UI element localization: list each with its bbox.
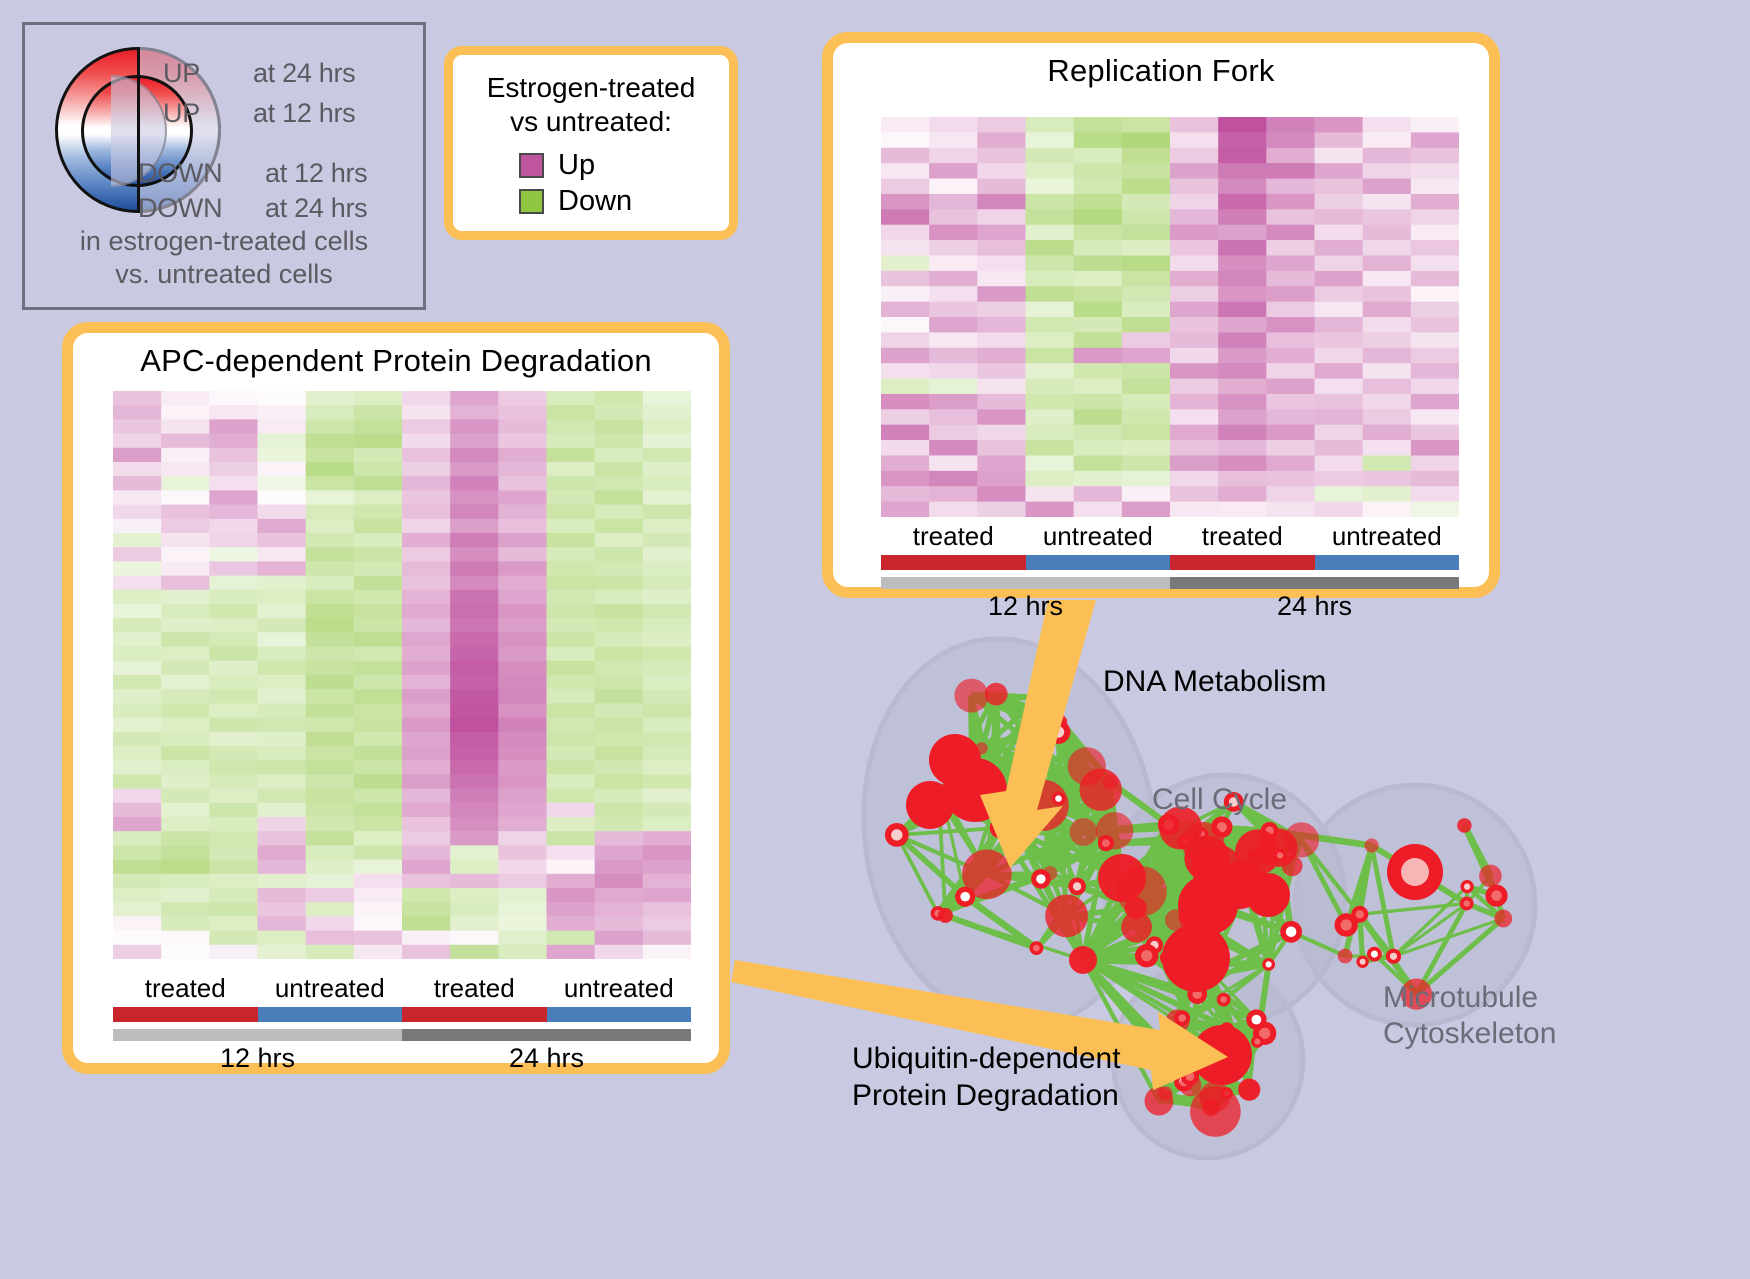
heatmap-cell: [595, 419, 644, 434]
heatmap-cell: [1411, 455, 1459, 471]
time-bar-rf-24hrs: [1170, 577, 1459, 589]
heatmap-cell: [209, 874, 258, 889]
heatmap-cell: [595, 689, 644, 704]
heatmap-cell: [113, 476, 162, 491]
network-node-core: [1011, 824, 1021, 834]
heatmap-cell: [1315, 502, 1364, 517]
heatmap-cell: [1411, 240, 1459, 256]
heatmap-cell: [306, 860, 355, 875]
heatmap-cell: [113, 519, 162, 534]
network-node: [1103, 775, 1118, 790]
heatmap-cell: [258, 916, 307, 931]
heatmap-cell: [450, 732, 499, 747]
heatmap-cell: [1363, 225, 1412, 241]
heatmap-cell: [643, 703, 691, 718]
cond-label-rf-2: treated: [1170, 521, 1315, 552]
heatmap-cell: [354, 817, 403, 832]
heatmap-cell: [161, 505, 210, 520]
heatmap-cell: [1074, 255, 1123, 271]
heatmap-cell: [547, 476, 596, 491]
network-node: [1098, 854, 1146, 902]
heatmap-cell: [450, 604, 499, 619]
heatmap-cell: [595, 405, 644, 420]
heatmap-cell: [881, 117, 930, 133]
heatmap-cell: [161, 774, 210, 789]
heatmap-cell: [258, 902, 307, 917]
heatmap-cell: [1026, 394, 1075, 410]
heatmap-cell: [402, 391, 451, 406]
heatmap-cell: [643, 405, 691, 420]
heatmap-cell: [1315, 225, 1364, 241]
heatmap-cell: [113, 774, 162, 789]
heatmap-cell: [1074, 271, 1123, 287]
heatmap-cell: [113, 618, 162, 633]
heatmap-cell: [881, 363, 930, 379]
heatmap-cell: [1074, 117, 1123, 133]
heatmap-cell: [161, 874, 210, 889]
heatmap-cell: [209, 860, 258, 875]
heatmap-cell: [643, 746, 691, 761]
heatmap-cell: [1170, 225, 1219, 241]
heatmap-cell: [161, 817, 210, 832]
heatmap-cell: [258, 632, 307, 647]
heatmap-cell: [595, 462, 644, 477]
heatmap-cell: [1411, 363, 1459, 379]
heatmap-cell: [209, 618, 258, 633]
heatmap-cell: [595, 774, 644, 789]
heatmap-cell: [1026, 240, 1075, 256]
heatmap-cell: [306, 888, 355, 903]
heatmap-cell: [450, 448, 499, 463]
heatmap-cell: [354, 675, 403, 690]
heatmap-cell: [306, 533, 355, 548]
heatmap-cell: [929, 455, 978, 471]
heatmap-cell: [258, 689, 307, 704]
heatmap-cell: [547, 632, 596, 647]
heatmap-cell: [354, 803, 403, 818]
heatmap-cell: [306, 405, 355, 420]
heatmap-cell: [1170, 117, 1219, 133]
time-bar-apc-12hrs: [113, 1029, 402, 1041]
heatmap-cell: [498, 945, 547, 959]
heatmap-cell: [1218, 194, 1267, 210]
heatmap-cell: [595, 902, 644, 917]
network-node-core: [1178, 1014, 1186, 1022]
heatmap-cell: [161, 618, 210, 633]
heatmap-cell: [450, 689, 499, 704]
cluster-label-microtubule-cytoskeleton: Microtubule Cytoskeleton: [1383, 980, 1556, 1052]
heatmap-cell: [929, 163, 978, 179]
heatmap-cell: [450, 789, 499, 804]
heatmap-cell: [1266, 440, 1315, 456]
heatmap-cell: [354, 419, 403, 434]
heatmap-cell: [306, 561, 355, 576]
heatmap-cell: [113, 803, 162, 818]
heatmap-cell: [1074, 379, 1123, 395]
heatmap-cell: [1363, 132, 1412, 148]
heatmap-cell: [1170, 271, 1219, 287]
cond-label-apc-0: treated: [113, 973, 258, 1004]
heatmap-cell: [1363, 286, 1412, 302]
heatmap-cell: [977, 255, 1026, 271]
heatmap-cell: [1218, 179, 1267, 195]
heatmap-cell: [1122, 455, 1171, 471]
heatmap-cell: [354, 916, 403, 931]
heatmap-cell: [977, 394, 1026, 410]
heatmap-cell: [161, 590, 210, 605]
network-node-core: [960, 892, 970, 902]
heatmap-cell: [306, 831, 355, 846]
heatmap-cell: [1026, 148, 1075, 164]
heatmap-cell: [258, 561, 307, 576]
heatmap-cell: [258, 576, 307, 591]
heatmap-cell: [209, 661, 258, 676]
heatmap-cell: [977, 132, 1026, 148]
heatmap-cell: [450, 405, 499, 420]
heatmap-cell: [258, 931, 307, 946]
heatmap-cell: [209, 576, 258, 591]
heatmap-cell: [354, 618, 403, 633]
heatmap-cell: [498, 661, 547, 676]
heatmap-cell: [977, 225, 1026, 241]
heatmap-cell: [1411, 379, 1459, 395]
network-node-core: [1141, 950, 1152, 961]
heatmap-cell: [1315, 163, 1364, 179]
heatmap-cell: [209, 789, 258, 804]
heatmap-cell: [498, 774, 547, 789]
heatmap-cell: [1218, 502, 1267, 517]
heatmap-cell: [354, 604, 403, 619]
heatmap-cell: [1026, 486, 1075, 502]
heatmap-cell: [1074, 409, 1123, 425]
heatmap-cell: [209, 803, 258, 818]
network-node: [1068, 747, 1106, 785]
heatmap-cell: [258, 519, 307, 534]
heatmap-cell: [1315, 455, 1364, 471]
cond-label-rf-1: untreated: [1026, 521, 1171, 552]
heatmap-cell: [643, 902, 691, 917]
heatmap-cell: [1170, 486, 1219, 502]
heatmap-cell: [161, 462, 210, 477]
heatmap-cell: [402, 576, 451, 591]
heatmap-cell: [306, 590, 355, 605]
heatmap-cell: [450, 419, 499, 434]
heatmap-cell: [402, 590, 451, 605]
heatmap-cell: [113, 419, 162, 434]
panel-title-apc: APC-dependent Protein Degradation: [73, 333, 719, 379]
heatmap-cell: [450, 675, 499, 690]
heatmap-cell: [258, 661, 307, 676]
heatmap-cell: [113, 675, 162, 690]
heatmap-cell: [547, 760, 596, 775]
heatmap-cell: [929, 409, 978, 425]
heatmap-cell: [643, 576, 691, 591]
heatmap-cell: [258, 618, 307, 633]
heatmap-cell: [1026, 271, 1075, 287]
heatmap-cell: [1026, 255, 1075, 271]
heatmap-cell: [1218, 148, 1267, 164]
heatmap-cell: [547, 703, 596, 718]
heatmap-cell: [498, 604, 547, 619]
heatmap-cell: [402, 845, 451, 860]
heatmap-cell: [595, 860, 644, 875]
time-color-bar-apc: [113, 1029, 691, 1041]
heatmap-cell: [1218, 363, 1267, 379]
heatmap-cell: [1026, 132, 1075, 148]
heatmap-cell: [209, 732, 258, 747]
heatmap-cell: [354, 888, 403, 903]
heatmap-cell: [354, 519, 403, 534]
heatmap-cell: [1315, 209, 1364, 225]
heatmap-cell: [1026, 440, 1075, 456]
heatmap-cell: [1266, 240, 1315, 256]
heatmap-cell: [977, 163, 1026, 179]
network-node: [1070, 818, 1098, 846]
network-node: [1457, 818, 1471, 832]
heatmap-cell: [547, 647, 596, 662]
cond-bar-rf-untreated-24: [1315, 555, 1460, 570]
heatmap-cell: [209, 519, 258, 534]
heatmap-cell: [595, 448, 644, 463]
heatmap-cell: [354, 860, 403, 875]
heatmap-cell: [1411, 502, 1459, 517]
heatmap-cell: [881, 486, 930, 502]
heatmap-cell: [643, 888, 691, 903]
heatmap-cell: [306, 476, 355, 491]
heatmap-cell: [498, 391, 547, 406]
heatmap-cell: [354, 490, 403, 505]
heatmap-cell: [113, 703, 162, 718]
heatmap-cell: [977, 117, 1026, 133]
heatmap-cell: [881, 209, 930, 225]
heatmap-cell: [1266, 255, 1315, 271]
heatmap-cell: [643, 718, 691, 733]
heatmap-cell: [1363, 455, 1412, 471]
heatmap-cell: [450, 718, 499, 733]
heatmap-cell: [161, 760, 210, 775]
network-node-core: [1155, 1045, 1162, 1052]
heatmap-cell: [1026, 302, 1075, 318]
network-node: [1190, 1086, 1241, 1137]
heatmap-cell: [498, 746, 547, 761]
heatmap-cell: [1122, 363, 1171, 379]
heatmap-cell: [1315, 363, 1364, 379]
network-node-core: [1341, 919, 1352, 930]
heatmap-cell: [1122, 348, 1171, 364]
heatmap-cell: [450, 746, 499, 761]
heatmap-cell: [547, 405, 596, 420]
heatmap-cell: [113, 916, 162, 931]
heatmap-cell: [450, 632, 499, 647]
heatmap-cell: [161, 434, 210, 449]
heatmap-cell: [498, 874, 547, 889]
heatmap-cell: [643, 732, 691, 747]
network-node-hub: [1192, 1025, 1252, 1085]
heatmap-cell: [1218, 271, 1267, 287]
heatmap-cell: [258, 945, 307, 959]
heatmap-cell: [547, 774, 596, 789]
heatmap-cell: [113, 931, 162, 946]
heatmap-cell: [1266, 179, 1315, 195]
heatmap-cell: [450, 888, 499, 903]
heatmap-cell: [643, 476, 691, 491]
heatmap-cell: [354, 789, 403, 804]
heatmap-cell: [1411, 132, 1459, 148]
heatmap-cell: [498, 576, 547, 591]
heatmap-cell: [209, 675, 258, 690]
heatmap-cell: [1026, 117, 1075, 133]
heatmap-cell: [113, 561, 162, 576]
heatmap-cell: [643, 391, 691, 406]
network-node: [1238, 1079, 1260, 1101]
heatmap-cell: [1363, 502, 1412, 517]
heatmap-cell: [1026, 348, 1075, 364]
heatmap-cell: [161, 632, 210, 647]
heatmap-cell: [258, 505, 307, 520]
heatmap-cell: [354, 547, 403, 562]
heatmap-cell: [1122, 132, 1171, 148]
heatmap-cell: [402, 817, 451, 832]
heatmap-cell: [258, 434, 307, 449]
heatmap-cell: [1074, 440, 1123, 456]
heatmap-cell: [1074, 394, 1123, 410]
heatmap-cell: [113, 405, 162, 420]
heatmap-cell: [161, 732, 210, 747]
heatmap-cell: [1122, 225, 1171, 241]
heatmap-cell: [1122, 379, 1171, 395]
heatmap-cell: [209, 703, 258, 718]
heatmap-cell: [547, 916, 596, 931]
heatmap-cell: [1026, 455, 1075, 471]
heatmap-cell: [1122, 255, 1171, 271]
heatmap-cell: [209, 561, 258, 576]
heatmap-cell: [306, 689, 355, 704]
heatmap-cell: [402, 831, 451, 846]
heatmap-cell: [1122, 240, 1171, 256]
heatmap-cell: [113, 789, 162, 804]
heatmap-cell: [929, 209, 978, 225]
heatmap-cell: [209, 419, 258, 434]
heatmap-cell: [113, 604, 162, 619]
heatmap-cell: [547, 519, 596, 534]
heatmap-cell: [547, 505, 596, 520]
heatmap-cell: [595, 888, 644, 903]
heatmap-cell: [929, 286, 978, 302]
heatmap-cell: [977, 194, 1026, 210]
heatmap-cell: [1315, 409, 1364, 425]
heatmap-cell: [929, 348, 978, 364]
heatmap-cell: [450, 703, 499, 718]
heatmap-cell: [498, 718, 547, 733]
heatmap-cell: [498, 632, 547, 647]
heatmap-cell: [1411, 209, 1459, 225]
heatmap-cell: [498, 675, 547, 690]
heatmap-cell: [354, 718, 403, 733]
time-label-rf-12: 12 hrs: [881, 591, 1170, 622]
network-node-core: [1186, 1072, 1195, 1081]
heatmap-cell: [1315, 255, 1364, 271]
heatmap-cell: [1411, 317, 1459, 333]
cond-bar-apc-treated-12: [113, 1007, 258, 1022]
heatmap-cell: [113, 647, 162, 662]
network-node-hub: [906, 781, 954, 829]
heatmap-cell: [258, 533, 307, 548]
time-bar-rf-12hrs: [881, 577, 1170, 589]
network-node-core: [1491, 890, 1502, 901]
heatmap-cell: [1026, 502, 1075, 517]
condition-strip-replication-fork: treated untreated treated untreated 12 h…: [881, 521, 1459, 622]
heatmap-cell: [450, 590, 499, 605]
condition-strip-apc: treated untreated treated untreated 12 h…: [113, 973, 691, 1074]
heatmap-cell: [209, 888, 258, 903]
heatmap-cell: [881, 286, 930, 302]
heatmap-cell: [450, 490, 499, 505]
heatmap-cell: [595, 817, 644, 832]
heatmap-cell: [929, 271, 978, 287]
heatmap-cell: [306, 703, 355, 718]
heatmap-cell: [1074, 486, 1123, 502]
heatmap-cell: [258, 391, 307, 406]
heatmap-cell: [1411, 425, 1459, 441]
heatmap-cell: [354, 632, 403, 647]
network-node-core: [1033, 945, 1040, 952]
heatmap-cell: [498, 519, 547, 534]
heatmap-cell: [643, 860, 691, 875]
network-node-core: [1252, 1015, 1262, 1025]
network-node-core: [1401, 858, 1429, 886]
heatmap-cell: [1074, 363, 1123, 379]
heatmap-cell: [929, 502, 978, 517]
heatmap-cell: [1315, 286, 1364, 302]
heatmap-cell: [1363, 302, 1412, 318]
heatmap-cell: [977, 317, 1026, 333]
heatmap-cell: [643, 618, 691, 633]
heatmap-cell: [547, 547, 596, 562]
heatmap-cell: [1218, 209, 1267, 225]
heatmap-cell: [161, 448, 210, 463]
heatmap-cell: [402, 746, 451, 761]
heatmap-cell: [1266, 117, 1315, 133]
heatmap-cell: [450, 391, 499, 406]
heatmap-cell: [643, 675, 691, 690]
heatmap-cell: [595, 874, 644, 889]
heatmap-cell: [402, 448, 451, 463]
cond-bar-apc-untreated-12: [258, 1007, 403, 1022]
heatmap-cell: [1315, 348, 1364, 364]
heatmap-cell: [1363, 409, 1412, 425]
heatmap-cell: [113, 505, 162, 520]
heatmap-cell: [547, 902, 596, 917]
network-node-core: [1390, 953, 1397, 960]
heatmap-cell: [306, 519, 355, 534]
heatmap-cell: [498, 547, 547, 562]
heatmap-cell: [161, 703, 210, 718]
heatmap-cell: [1074, 225, 1123, 241]
condition-labels-rf: treated untreated treated untreated: [881, 521, 1459, 552]
heatmap-cell: [881, 440, 930, 456]
heatmap-cell: [1411, 163, 1459, 179]
heatmap-cell: [354, 746, 403, 761]
heatmap-cell: [161, 689, 210, 704]
heatmap-cell: [354, 576, 403, 591]
heatmap-cell: [498, 931, 547, 946]
heatmap-cell: [547, 590, 596, 605]
heatmap-cell: [1315, 425, 1364, 441]
heatmap-cell: [1074, 302, 1123, 318]
heatmap-cell: [306, 434, 355, 449]
heatmap-cell: [1363, 348, 1412, 364]
heatmap-cell: [643, 845, 691, 860]
